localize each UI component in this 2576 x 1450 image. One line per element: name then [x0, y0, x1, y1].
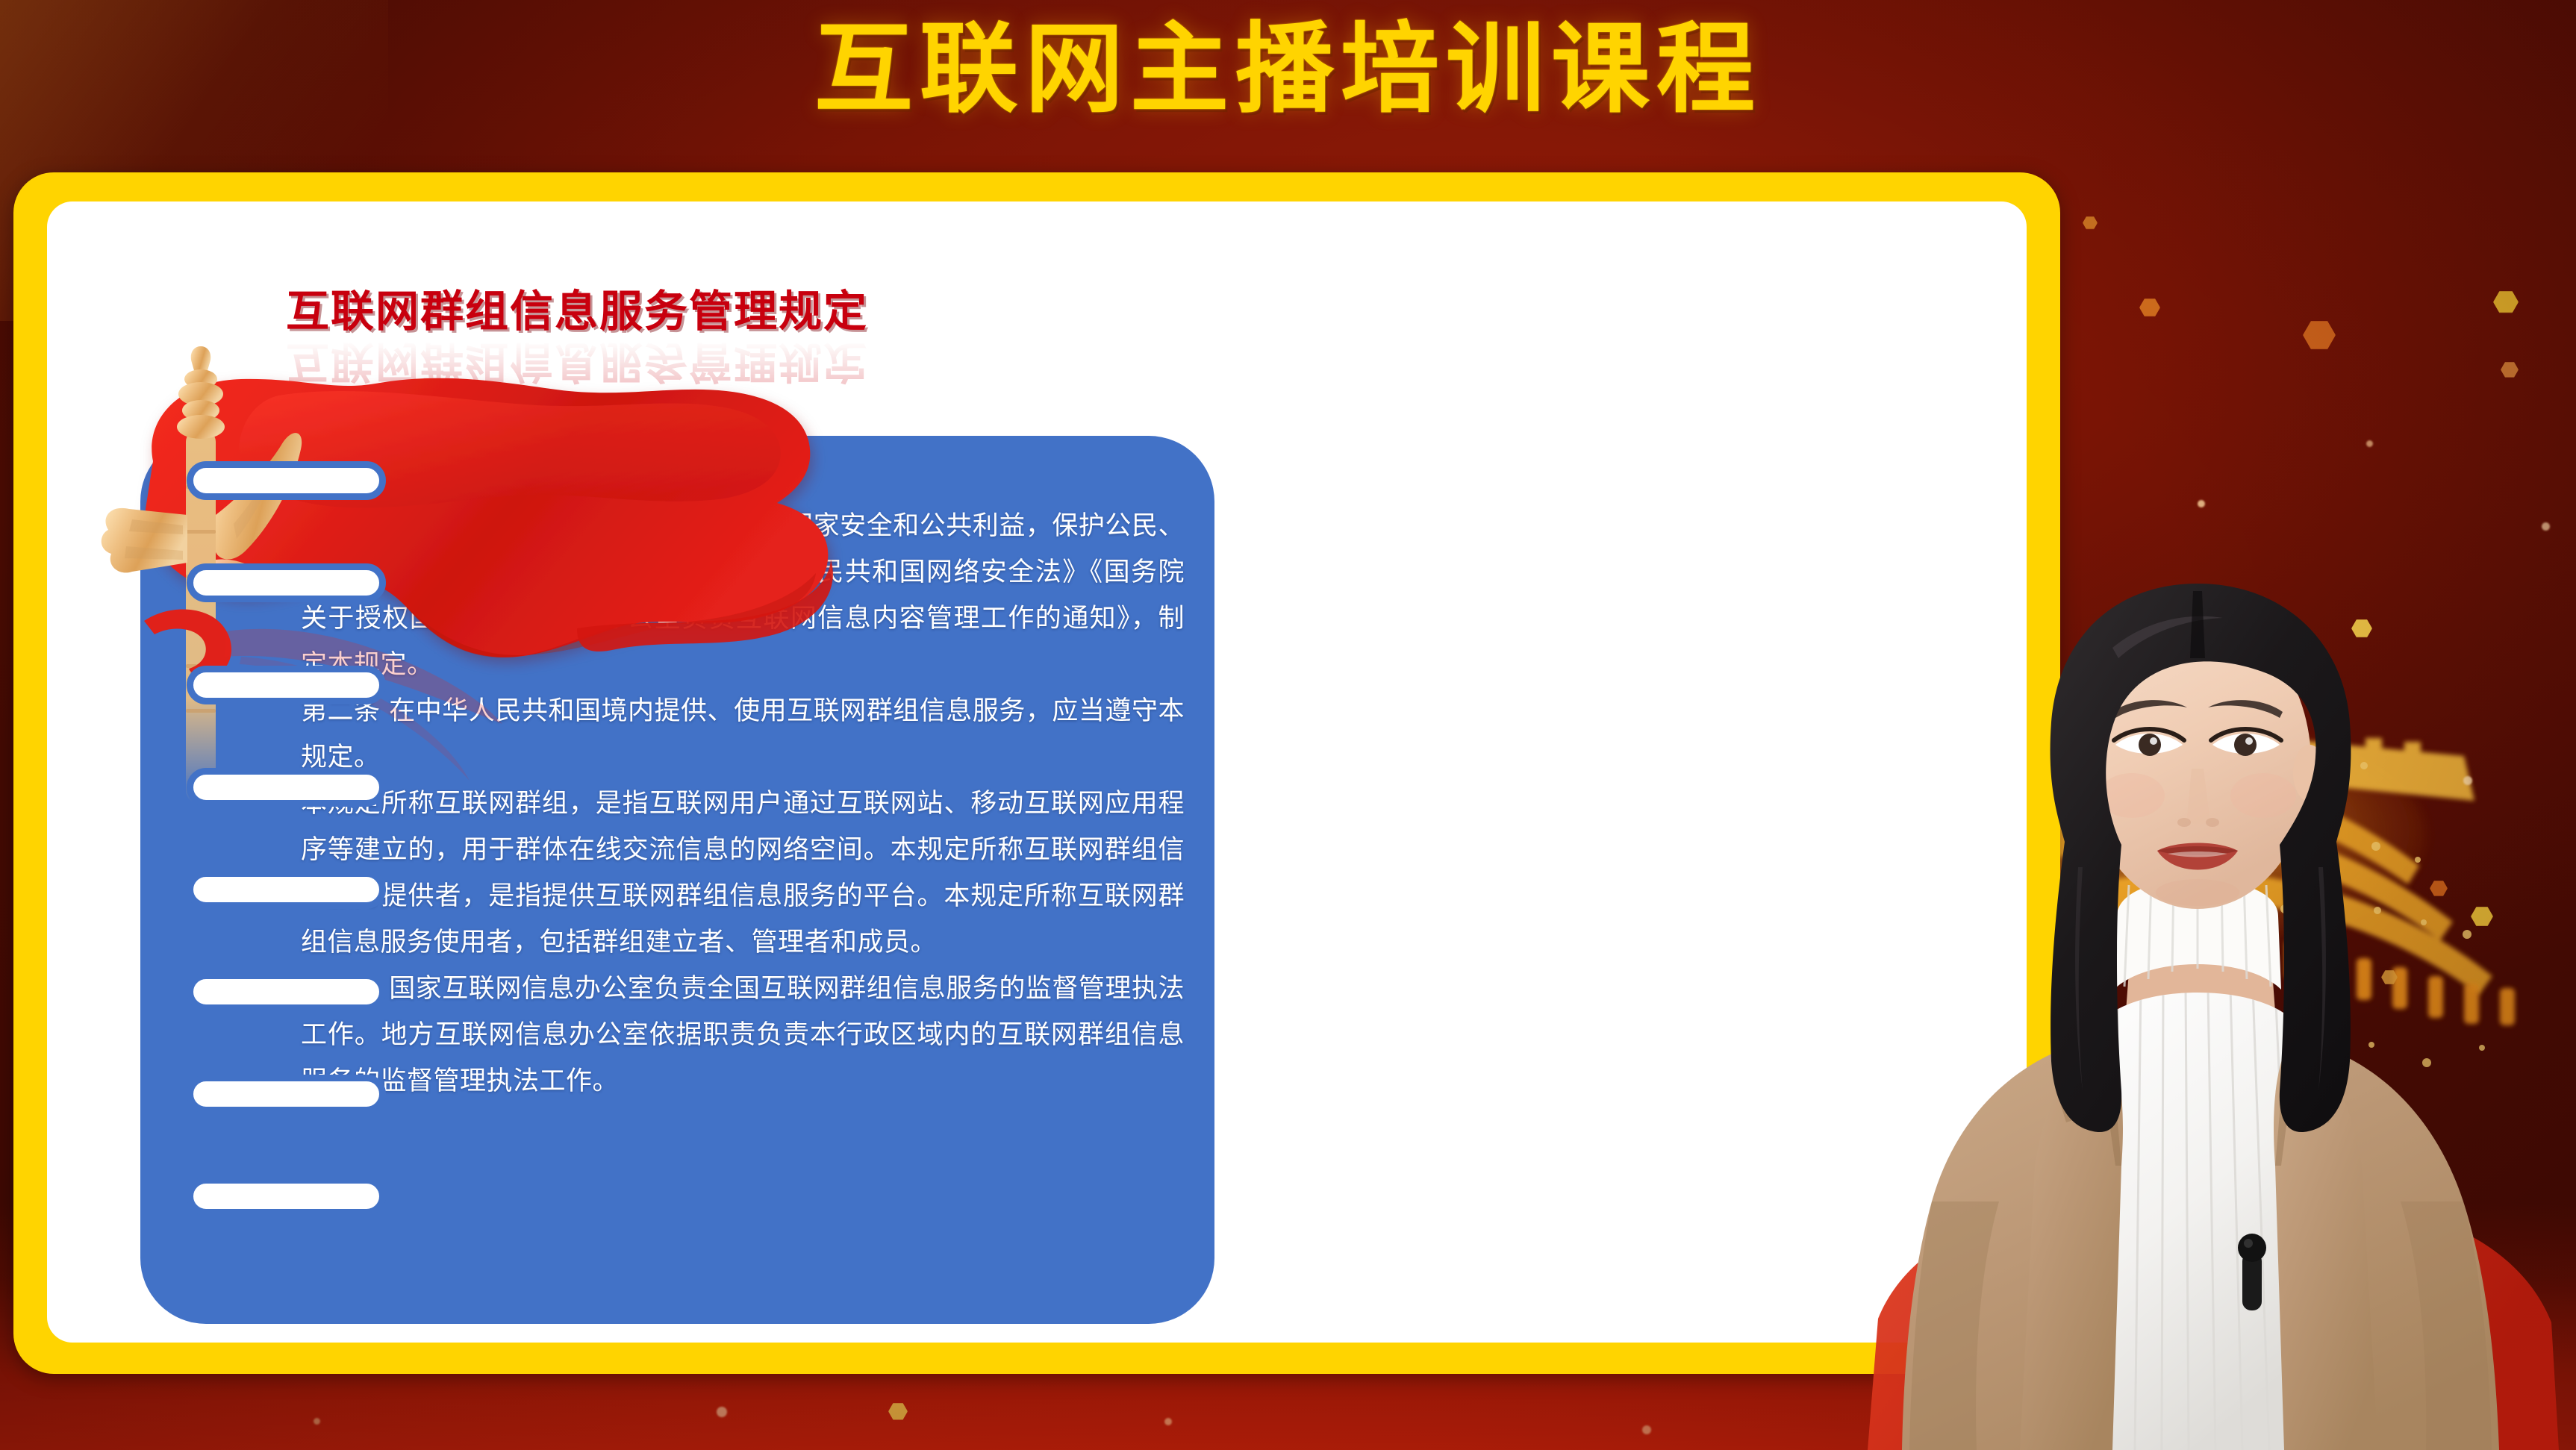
course-title-banner: 互联网主播培训课程	[0, 0, 2576, 131]
document-title: 互联网群组信息服务管理规定	[286, 276, 868, 339]
white-content-card: 互联网群组信息服务管理规定 互联网群组信息服务管理规定 第一条 为规范互联网群组…	[47, 201, 2027, 1343]
regulation-paragraph: 第二条 在中华人民共和国境内提供、使用互联网群组信息服务，应当遵守本规定。	[301, 688, 1185, 781]
document-title-block: 互联网群组信息服务管理规定 互联网群组信息服务管理规定	[286, 276, 868, 397]
binder-ring	[187, 768, 386, 807]
regulation-paragraph: 第三条 国家互联网信息办公室负责全国互联网群组信息服务的监督管理执法工作。地方互…	[301, 966, 1185, 1104]
binder-ring	[187, 1177, 386, 1216]
document-title-reflection: 互联网群组信息服务管理规定	[286, 334, 868, 397]
binder-ring	[187, 666, 386, 704]
binder-ring	[187, 563, 386, 602]
slide-canvas: 互联网主播培训课程 互联网群组信息服务管理规定 互联网群组信息服务管理规定 第一…	[0, 0, 2576, 1450]
binder-ring	[187, 870, 386, 909]
regulation-paragraph: 本规定所称互联网群组，是指互联网用户通过互联网站、移动互联网应用程序等建立的，用…	[301, 781, 1185, 966]
regulation-paragraph: 第一条 为规范互联网群组信息服务，维护国家安全和公共利益，保护公民、法人和其他组…	[301, 503, 1185, 688]
regulation-body-text: 第一条 为规范互联网群组信息服务，维护国家安全和公共利益，保护公民、法人和其他组…	[301, 503, 1185, 1104]
binder-ring	[187, 972, 386, 1011]
binder-ring	[187, 1075, 386, 1113]
page-title: 互联网主播培训课程	[814, 0, 1762, 132]
binder-ring	[187, 461, 386, 500]
yellow-frame-border: 互联网群组信息服务管理规定 互联网群组信息服务管理规定 第一条 为规范互联网群组…	[13, 172, 2060, 1374]
